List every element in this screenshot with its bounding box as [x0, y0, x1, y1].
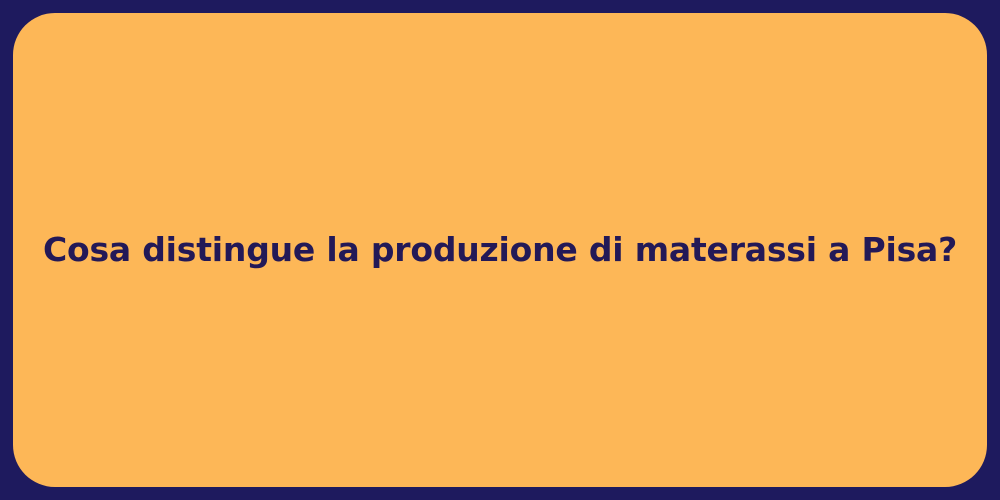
page-frame: Cosa distingue la produzione di materass… — [0, 0, 1000, 500]
question-card: Cosa distingue la produzione di materass… — [13, 13, 987, 487]
page-title: Cosa distingue la produzione di materass… — [13, 229, 987, 270]
